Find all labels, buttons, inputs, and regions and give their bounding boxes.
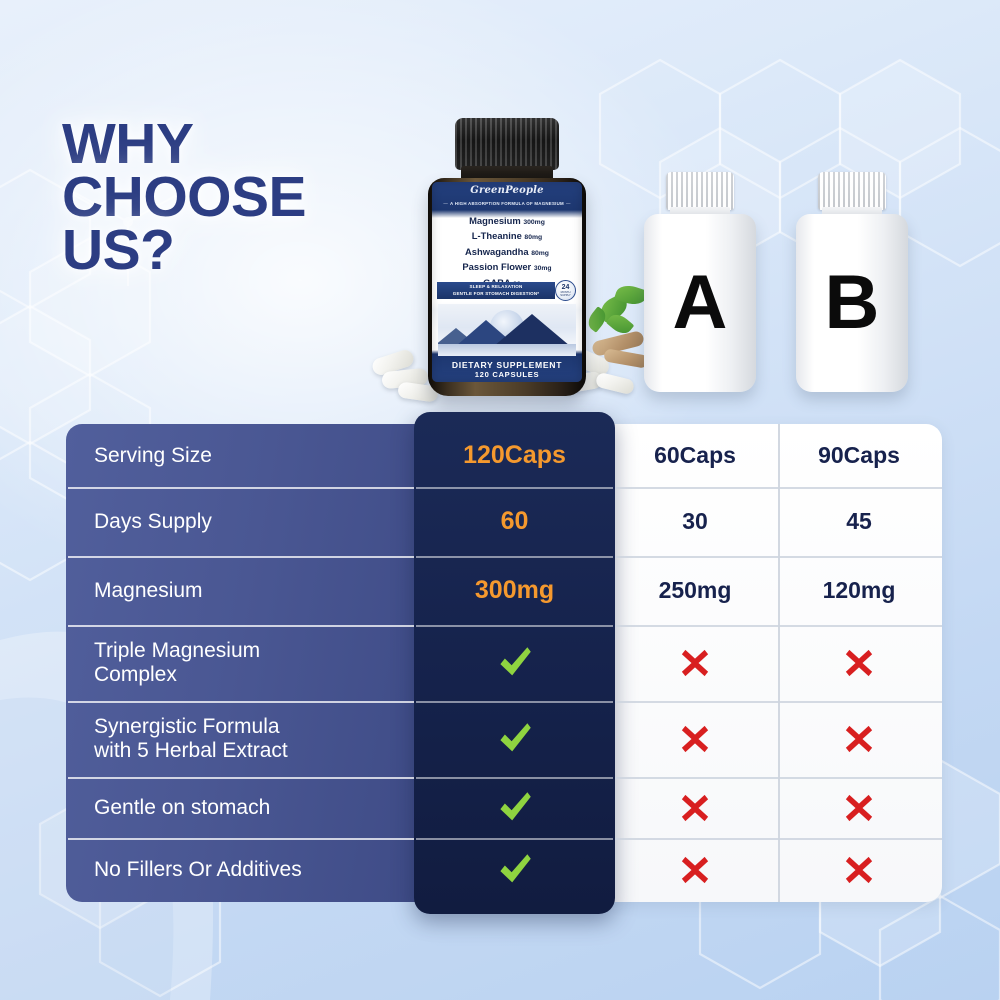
row-value-b: [777, 701, 941, 777]
competitor-letter-b: B: [796, 214, 908, 392]
row-feature-label-line-2: with 5 Herbal Extract: [94, 739, 288, 763]
ingredient-list: Magnesium 300mg L-Theanine 80mg Ashwagan…: [432, 214, 582, 291]
row-value-ours: 120Caps: [416, 424, 613, 487]
row-feature-label: No Fillers Or Additives: [66, 838, 416, 902]
row-feature-label: Synergistic Formula with 5 Herbal Extrac…: [66, 701, 416, 777]
banner-line-2: GENTLE FOR STOMACH DIGESTION*: [453, 291, 539, 297]
list-item: Magnesium 300mg: [432, 214, 582, 229]
footer-line-1: DIETARY SUPPLEMENT: [432, 360, 582, 370]
row-feature-label-line-1: Synergistic Formula: [94, 715, 288, 739]
row-value-a: 30: [613, 487, 777, 556]
row-feature-label-line-1: Triple Magnesium: [94, 639, 260, 663]
row-value-ours: 300mg: [416, 556, 613, 625]
row-value-a: [613, 701, 777, 777]
row-value-b: 90Caps: [777, 424, 941, 487]
cross-icon: [845, 649, 873, 677]
mountain-icon: [494, 314, 570, 346]
row-value-b: 45: [777, 487, 941, 556]
cross-icon: [681, 649, 709, 677]
list-item: L-Theanine 80mg: [432, 229, 582, 244]
comparison-table: Serving Size 120Caps 60Caps 90Caps Days …: [66, 424, 942, 902]
cross-icon: [681, 794, 709, 822]
row-value-ours: [416, 625, 613, 701]
row-value-b: 120mg: [777, 556, 941, 625]
row-value-a: [613, 625, 777, 701]
row-value-a: 250mg: [613, 556, 777, 625]
mountain-artwork-icon: [438, 304, 576, 356]
product-imagery: A B GreenPeople A HIGH ABSORPTION FORMUL…: [0, 0, 1000, 420]
competitor-bottle-a: A: [644, 172, 756, 392]
cross-icon: [845, 725, 873, 753]
table-grid: Serving Size 120Caps 60Caps 90Caps Days …: [66, 424, 942, 902]
check-icon: [497, 852, 533, 888]
supply-seal-badge: 24 MONTH SUPPLY: [555, 280, 576, 301]
table-row: Serving Size 120Caps 60Caps 90Caps: [66, 424, 942, 487]
row-feature-label: Gentle on stomach: [66, 777, 416, 838]
check-icon: [497, 721, 533, 757]
row-value-b: [777, 777, 941, 838]
list-item: Passion Flower 30mg: [432, 260, 582, 275]
table-row: Synergistic Formula with 5 Herbal Extrac…: [66, 701, 942, 777]
row-value-ours: [416, 838, 613, 902]
row-feature-label: Magnesium: [66, 556, 416, 625]
seal-number: 24: [562, 284, 570, 291]
row-value-ours: [416, 701, 613, 777]
table-row: Magnesium 300mg 250mg 120mg: [66, 556, 942, 625]
cross-icon: [681, 725, 709, 753]
product-bottle: GreenPeople A HIGH ABSORPTION FORMULA OF…: [424, 118, 590, 396]
bottle-cap-icon: [818, 172, 886, 210]
row-feature-label: Days Supply: [66, 487, 416, 556]
table-row: Days Supply 60 30 45: [66, 487, 942, 556]
footer-line-2: 120 CAPSULES: [432, 370, 582, 379]
row-feature-label-line-2: Complex: [94, 663, 260, 687]
bottle-cap-icon: [455, 118, 559, 170]
cross-icon: [845, 856, 873, 884]
list-item: Ashwagandha 80mg: [432, 245, 582, 260]
bottle-label: GreenPeople A HIGH ABSORPTION FORMULA OF…: [432, 182, 582, 382]
table-row: Triple Magnesium Complex: [66, 625, 942, 701]
cross-icon: [681, 856, 709, 884]
competitor-letter-a: A: [644, 214, 756, 392]
row-value-ours: [416, 777, 613, 838]
seal-sub-2: SUPPLY: [560, 294, 570, 297]
brand-name: GreenPeople: [432, 185, 582, 196]
check-icon: [497, 790, 533, 826]
row-value-a: 60Caps: [613, 424, 777, 487]
row-value-b: [777, 838, 941, 902]
row-feature-label: Triple Magnesium Complex: [66, 625, 416, 701]
row-value-a: [613, 777, 777, 838]
table-row: Gentle on stomach: [66, 777, 942, 838]
label-banner: SLEEP & RELAXATION GENTLE FOR STOMACH DI…: [437, 282, 555, 299]
ginger-root-icon: [603, 348, 649, 368]
capsule-icon: [595, 372, 636, 396]
bottle-cap-icon: [666, 172, 734, 210]
table-row: No Fillers Or Additives: [66, 838, 942, 902]
row-feature-label: Serving Size: [66, 424, 416, 487]
row-value-a: [613, 838, 777, 902]
water-reflection: [438, 344, 576, 356]
check-icon: [497, 645, 533, 681]
label-footer: DIETARY SUPPLEMENT 120 CAPSULES: [432, 360, 582, 379]
cross-icon: [845, 794, 873, 822]
row-value-b: [777, 625, 941, 701]
row-value-ours: 60: [416, 487, 613, 556]
competitor-bottle-b: B: [796, 172, 908, 392]
label-tagline: A HIGH ABSORPTION FORMULA OF MAGNESIUM: [432, 201, 582, 206]
